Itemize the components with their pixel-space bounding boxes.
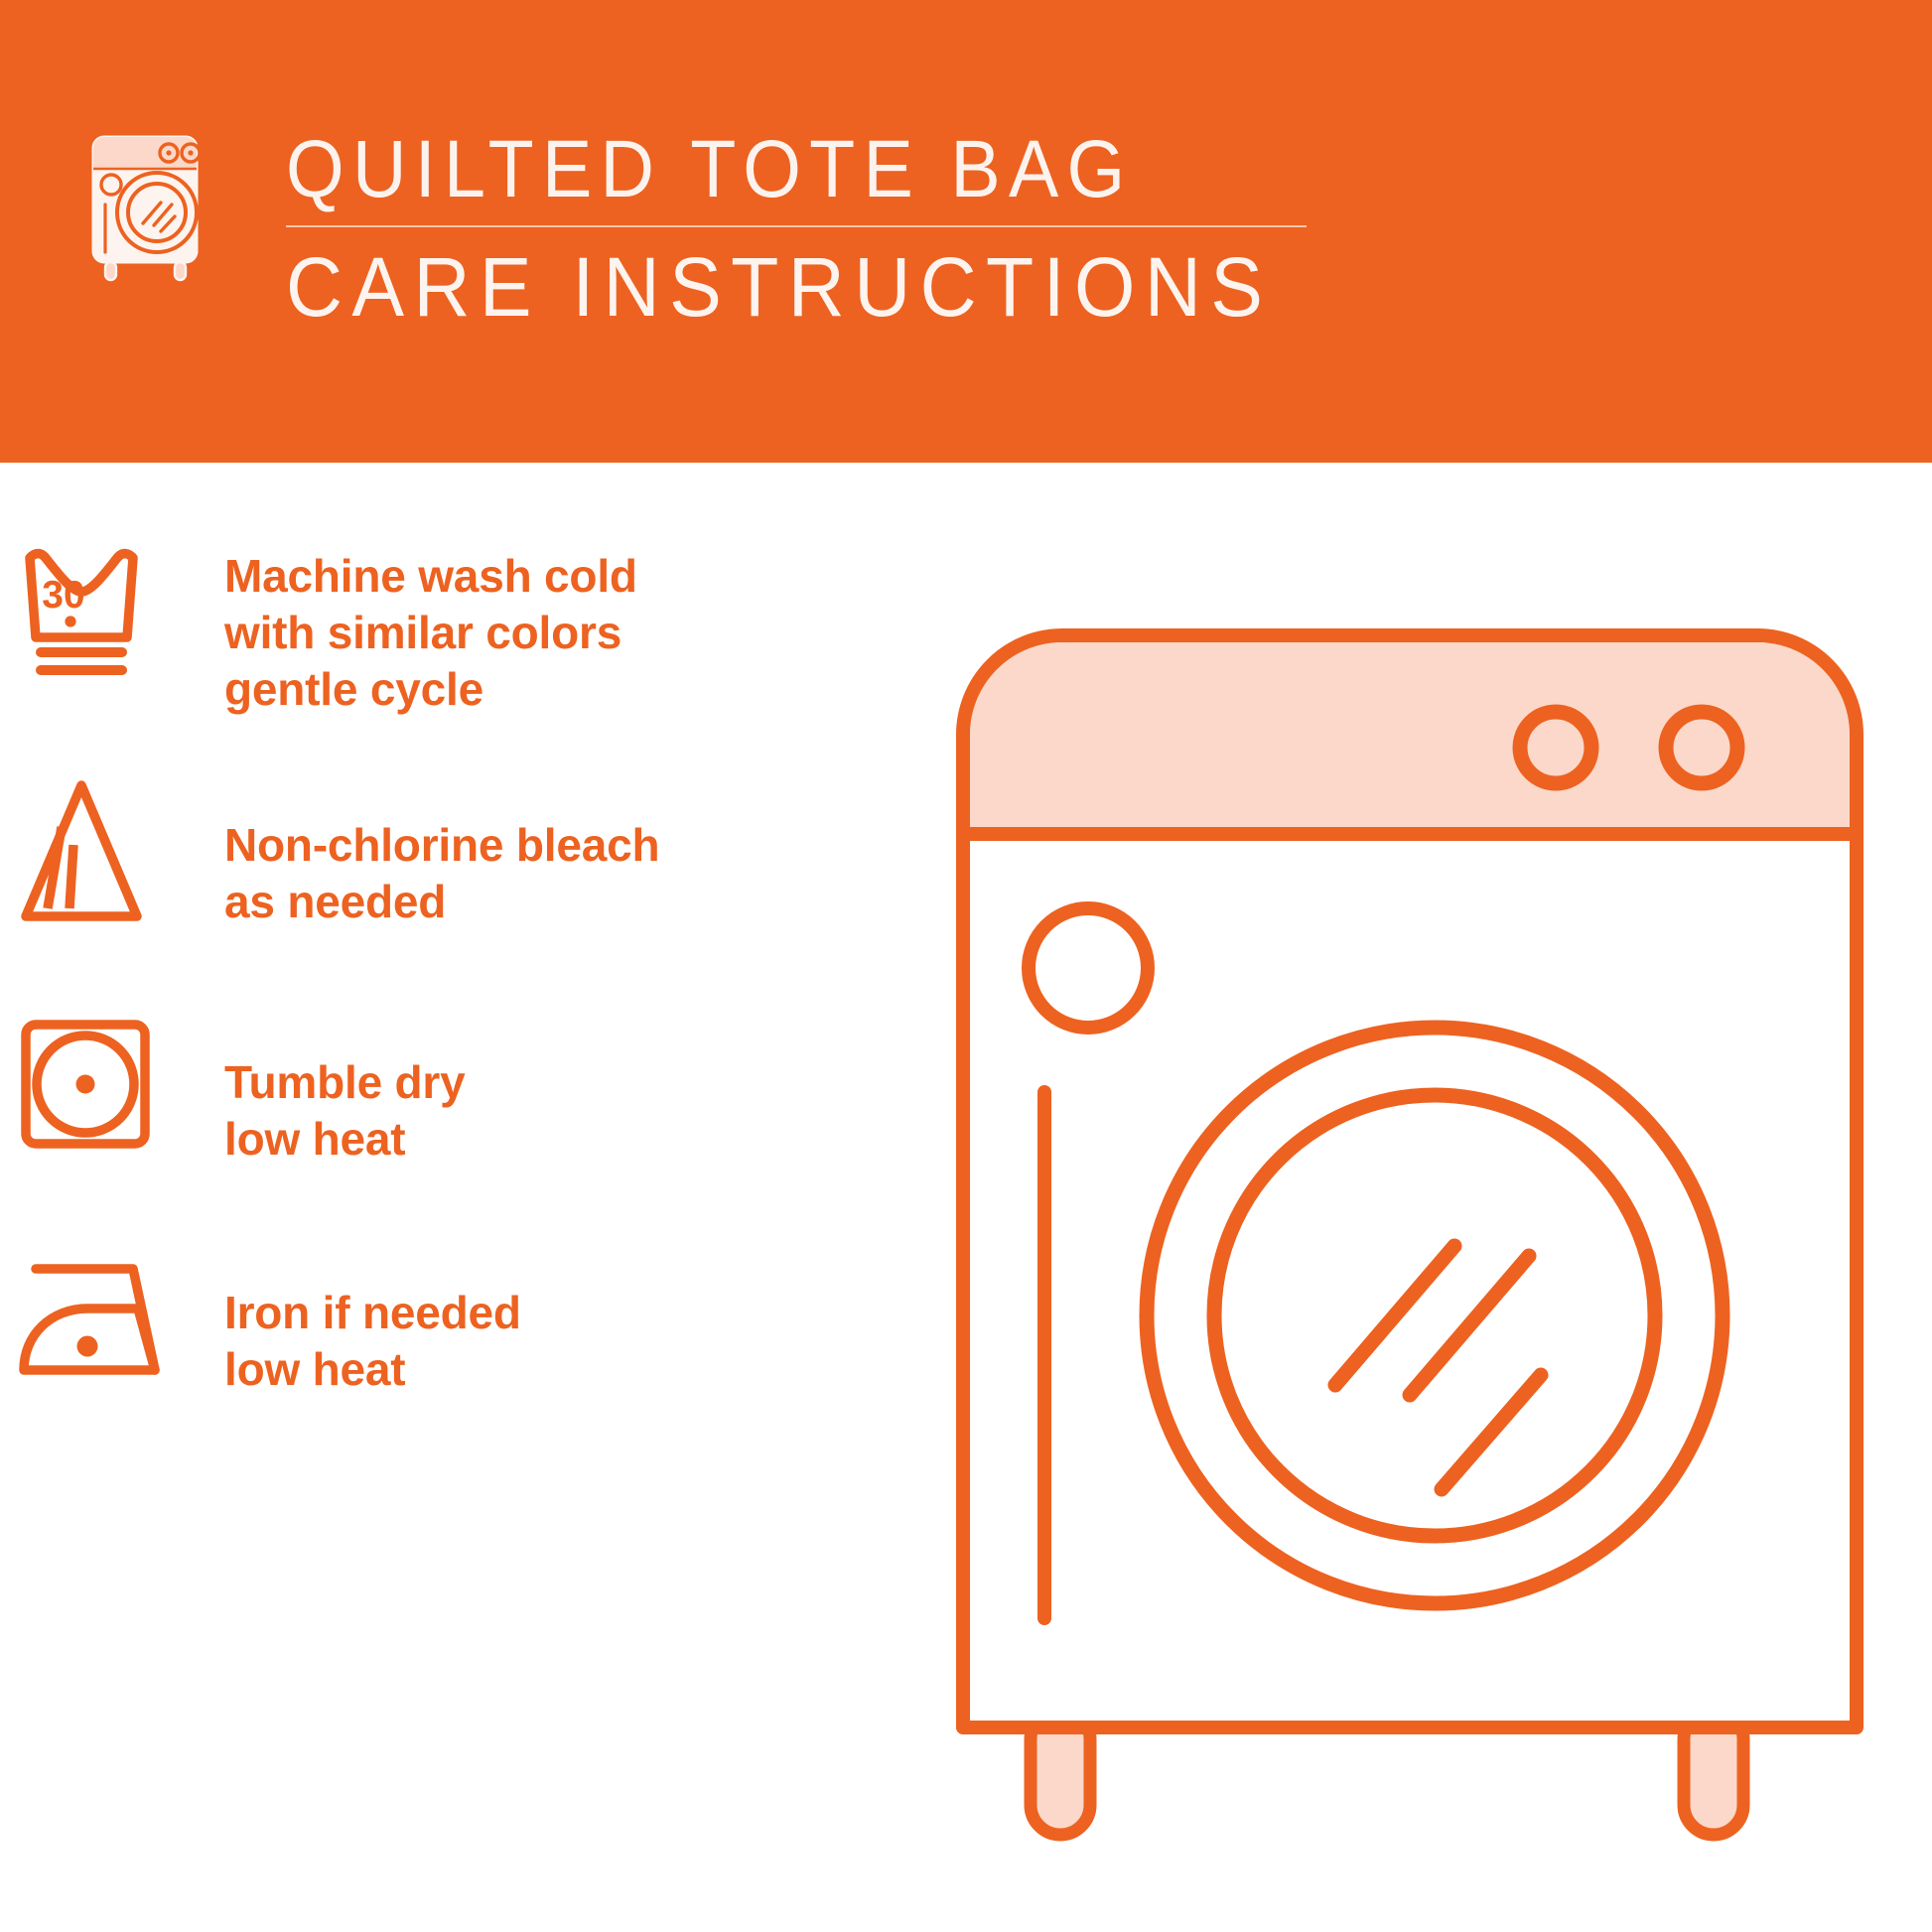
iron-low-heat-icon: [16, 1247, 193, 1396]
svg-text:30: 30: [42, 574, 84, 617]
page-title-primary: QUILTED TOTE BAG: [286, 126, 1254, 213]
header-band: QUILTED TOTE BAG CARE INSTRUCTIONS: [0, 0, 1932, 463]
care-row-machine-wash: 30 Machine wash cold with similar colors…: [0, 542, 923, 718]
care-label-bleach: Non-chlorine bleach as needed: [199, 775, 659, 930]
care-icon-slot: [0, 775, 199, 934]
care-icon-slot: [0, 1011, 199, 1160]
non-chlorine-bleach-icon: [16, 775, 193, 934]
washing-machine-illustration: [953, 625, 1866, 1876]
care-icon-slot: [0, 1247, 199, 1396]
control-panel: [970, 642, 1850, 834]
care-row-bleach: Non-chlorine bleach as needed: [0, 775, 923, 934]
machine-wash-30-gentle-icon: 30: [16, 542, 193, 691]
washing-machine-icon: [71, 127, 218, 284]
title-divider: [286, 225, 1307, 227]
tumble-dry-low-heat-icon: [16, 1011, 193, 1160]
care-row-iron: Iron if needed low heat: [0, 1247, 923, 1398]
page-title-secondary: CARE INSTRUCTIONS: [286, 241, 1275, 333]
care-label-machine-wash: Machine wash cold with similar colors ge…: [199, 542, 637, 718]
care-label-iron: Iron if needed low heat: [199, 1247, 521, 1398]
care-icon-slot: 30: [0, 542, 199, 691]
care-instructions-list: 30 Machine wash cold with similar colors…: [0, 463, 953, 1932]
care-instructions-poster: QUILTED TOTE BAG CARE INSTRUCTIONS 30: [0, 0, 1932, 1932]
care-row-tumble-dry: Tumble dry low heat: [0, 1011, 923, 1168]
header-text-block: QUILTED TOTE BAG CARE INSTRUCTIONS: [286, 126, 1338, 333]
care-label-tumble-dry: Tumble dry low heat: [199, 1011, 466, 1168]
